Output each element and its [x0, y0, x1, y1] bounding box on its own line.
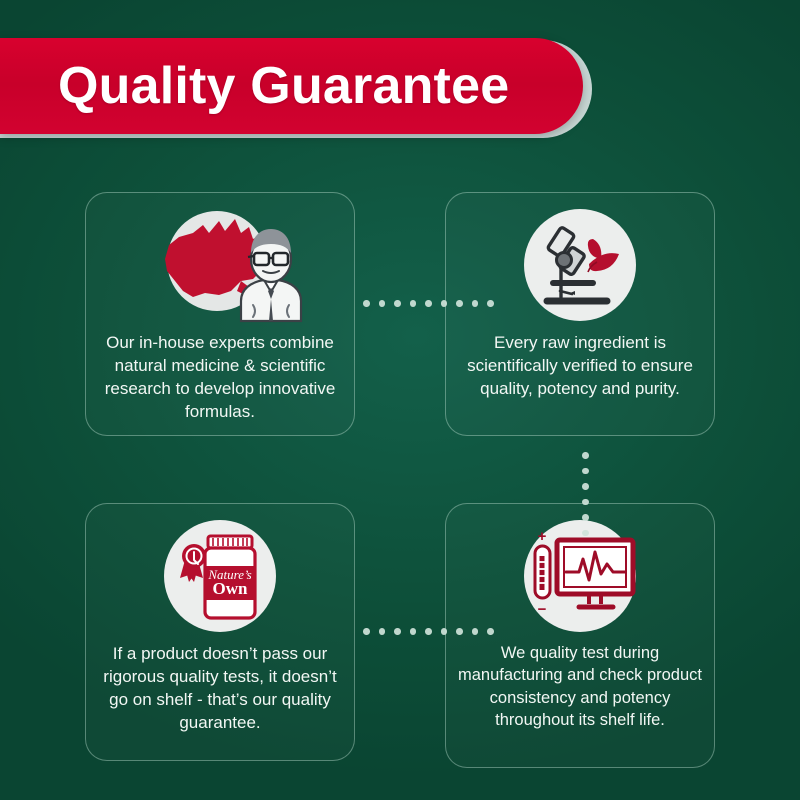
connector-dot	[441, 628, 448, 635]
feature-card-verification: Every raw ingredient is scientifically v…	[445, 192, 715, 436]
connector-dot	[472, 628, 479, 635]
connector-dot	[582, 483, 589, 490]
connector-dot	[582, 452, 589, 459]
feature-card-testing: + − We quality test during manufacturing…	[445, 503, 715, 768]
monitor-ecg-gauge-icon: + −	[524, 520, 636, 632]
card-text: We quality test during manufacturing and…	[454, 642, 706, 732]
connector-dot	[394, 628, 401, 635]
connector-dot	[394, 300, 401, 307]
gauge-plus-label: +	[538, 528, 547, 545]
card-text: Our in-house experts combine natural med…	[94, 331, 346, 423]
connector-dot	[487, 628, 494, 635]
header-banner: Quality Guarantee	[0, 38, 600, 136]
connector-dot	[456, 300, 463, 307]
gauge-minus-label: −	[538, 601, 547, 618]
connector-dot	[487, 300, 494, 307]
connector-dot	[582, 468, 589, 475]
connector-top-horizontal	[363, 300, 494, 307]
connector-dot	[363, 300, 370, 307]
connector-dot	[472, 300, 479, 307]
bottle-label-line2: Own	[213, 579, 249, 598]
connector-dot	[582, 514, 589, 521]
connector-dot	[425, 628, 432, 635]
page-title: Quality Guarantee	[0, 56, 509, 116]
feature-card-experts: Our in-house experts combine natural med…	[85, 192, 355, 436]
connector-dot	[456, 628, 463, 635]
infographic-canvas: Quality Guarantee	[0, 0, 800, 800]
banner-shape: Quality Guarantee	[0, 38, 583, 134]
card-text: Every raw ingredient is scientifically v…	[454, 331, 706, 400]
connector-dot	[582, 530, 589, 537]
card-text: If a product doesn’t pass our rigorous q…	[94, 642, 346, 734]
connector-dot	[379, 628, 386, 635]
supplement-bottle-award-icon: Nature’s Own	[164, 520, 276, 632]
connector-bottom-horizontal	[363, 628, 494, 635]
connector-dot	[582, 499, 589, 506]
australia-map-scientist-icon	[164, 209, 276, 321]
connector-dot	[410, 300, 417, 307]
connector-dot	[410, 628, 417, 635]
connector-right-vertical	[582, 452, 589, 536]
microscope-leaves-icon	[524, 209, 636, 321]
connector-dot	[425, 300, 432, 307]
connector-dot	[441, 300, 448, 307]
connector-dot	[379, 300, 386, 307]
feature-card-shelf-standard: Nature’s Own If a product doesn’t pass o…	[85, 503, 355, 761]
connector-dot	[363, 628, 370, 635]
